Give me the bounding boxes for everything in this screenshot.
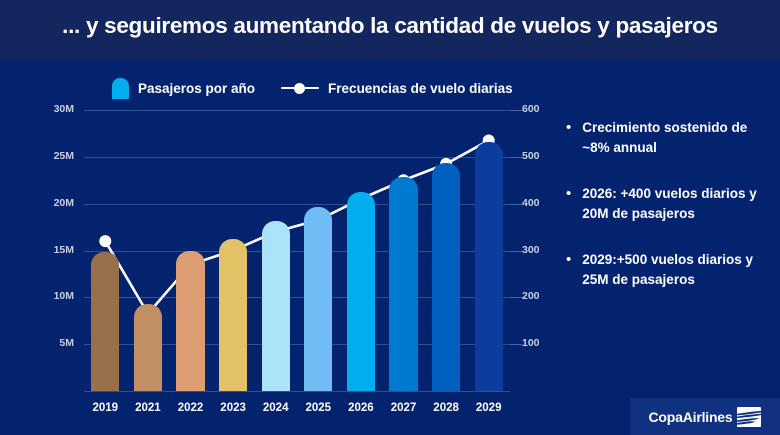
y-axis-right-tick: 400 [522, 197, 540, 209]
logo-text: CopaAirlines [649, 409, 733, 425]
y-axis-right-tickmark [510, 157, 523, 158]
y-axis-right-tick: 100 [522, 337, 540, 349]
y-axis-left-tick: 20M [54, 197, 74, 209]
y-axis-left-tick: 10M [54, 290, 74, 302]
legend-label-passengers: Pasajeros por año [138, 81, 255, 96]
bar-2024[interactable] [262, 221, 290, 391]
bullet-text: Crecimiento sostenido de ~8% annual [582, 118, 776, 158]
bullet-list: •Crecimiento sostenido de ~8% annual•202… [566, 118, 776, 316]
y-axis-right-tickmark [510, 204, 523, 205]
x-axis-label-2024: 2024 [254, 402, 297, 414]
y-axis-right-tickmark [510, 251, 523, 252]
y-axis-left-tick: 15M [54, 244, 74, 256]
x-axis-label-2022: 2022 [169, 402, 212, 414]
bar-2029[interactable] [475, 142, 503, 391]
copa-airlines-logo: CopaAirlines [630, 398, 780, 435]
bullet-item-2: •2026: +400 vuelos diarios y 20M de pasa… [566, 184, 776, 224]
y-axis-right-tick: 500 [522, 150, 540, 162]
legend-label-frequencies: Frecuencias de vuelo diarias [328, 81, 513, 96]
slide-root: ... y seguiremos aumentando la cantidad … [0, 0, 780, 435]
bar-2022[interactable] [176, 251, 204, 391]
bullet-dot-icon: • [566, 118, 571, 158]
bullet-item-3: •2029:+500 vuelos diarios y 25M de pasaj… [566, 250, 776, 290]
y-axis-left-tick: 5M [59, 337, 74, 349]
title-band: ... y seguiremos aumentando la cantidad … [0, 0, 780, 60]
x-axis-label-2028: 2028 [425, 402, 468, 414]
y-axis-left-tick: 30M [54, 103, 74, 115]
bar-2028[interactable] [432, 163, 460, 391]
gridline [84, 110, 510, 111]
plot-area: 2019: 3202021: 1652022: 2702023: 3002024… [84, 110, 510, 391]
y-axis-right-tickmark [510, 344, 523, 345]
y-axis-right-tick: 600 [522, 103, 540, 115]
copa-wave-mark-icon [737, 407, 761, 427]
gridline [84, 157, 510, 158]
x-axis-label-2021: 2021 [127, 402, 170, 414]
x-axis-label-2029: 2029 [467, 402, 510, 414]
legend-item-frequencies: Frecuencias de vuelo diarias [281, 81, 513, 96]
bullet-text: 2026: +400 vuelos diarios y 20M de pasaj… [582, 184, 776, 224]
y-axis-left-tick: 25M [54, 150, 74, 162]
line-marker-icon [281, 82, 319, 94]
x-axis-label-2025: 2025 [297, 402, 340, 414]
x-axis-label-2023: 2023 [212, 402, 255, 414]
bullet-item-1: •Crecimiento sostenido de ~8% annual [566, 118, 776, 158]
bar-2025[interactable] [304, 207, 332, 391]
bar-2026[interactable] [347, 192, 375, 392]
bullet-dot-icon: • [566, 250, 571, 290]
page-title: ... y seguiremos aumentando la cantidad … [0, 13, 780, 39]
x-axis-label-2026: 2026 [340, 402, 383, 414]
bar-2019[interactable] [91, 252, 119, 391]
bullet-text: 2029:+500 vuelos diarios y 25M de pasaje… [582, 250, 776, 290]
bar-2027[interactable] [389, 177, 417, 391]
chart-area: 2019: 3202021: 1652022: 2702023: 3002024… [0, 95, 560, 435]
y-axis-right-tick: 300 [522, 244, 540, 256]
x-axis-label-2027: 2027 [382, 402, 425, 414]
bullet-dot-icon: • [566, 184, 571, 224]
y-axis-right-tickmark [510, 297, 523, 298]
y-axis-right-tickmark [510, 110, 523, 111]
y-axis-right-tick: 200 [522, 290, 540, 302]
bar-2023[interactable] [219, 239, 247, 391]
bar-2021[interactable] [134, 304, 162, 391]
line-marker-2019[interactable]: 2019: 320 [99, 235, 111, 247]
axis-baseline [84, 391, 510, 392]
x-axis-label-2019: 2019 [84, 402, 127, 414]
